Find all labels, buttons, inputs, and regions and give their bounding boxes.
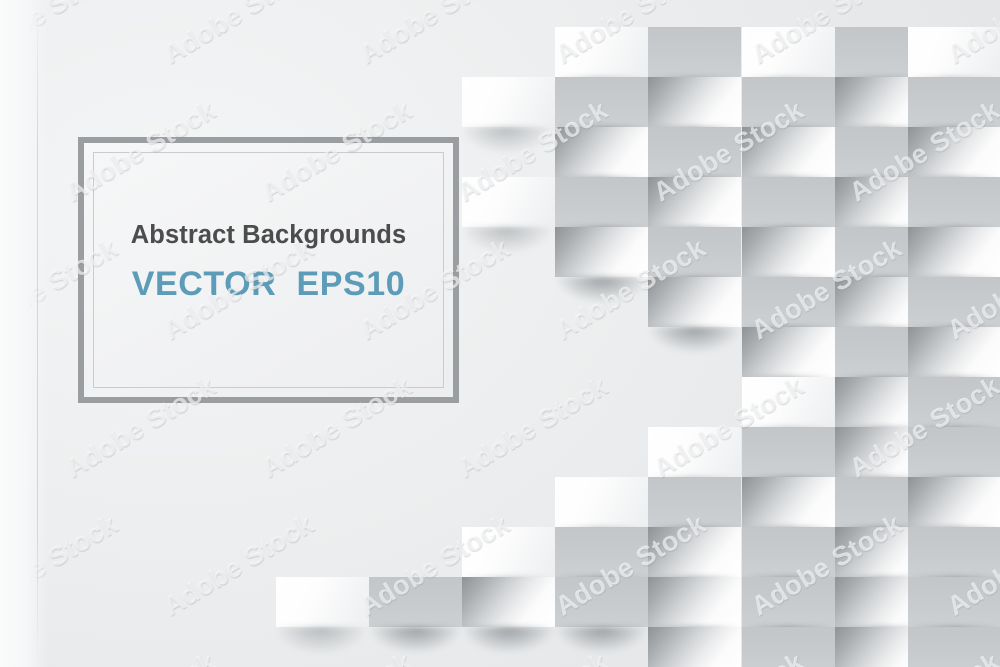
mosaic-tile (742, 627, 835, 667)
mosaic-tile-face (742, 227, 835, 277)
mosaic-tile (908, 277, 1000, 327)
mosaic-tile (555, 577, 648, 627)
mosaic-tile (648, 177, 741, 227)
mosaic-tile (742, 327, 835, 377)
caption-frame: Abstract Backgrounds VECTOR EPS10 (78, 137, 459, 403)
mosaic-tile (555, 77, 648, 127)
caption-text-block: Abstract Backgrounds VECTOR EPS10 (84, 221, 453, 304)
mosaic-tile-face (908, 477, 1000, 527)
mosaic-tile (908, 127, 1000, 177)
mosaic-tile-face (742, 27, 835, 77)
mosaic-tile (276, 577, 369, 627)
mosaic-tile-face (908, 277, 1000, 327)
mosaic-tile-face (648, 577, 741, 627)
mosaic-tile (648, 577, 741, 627)
mosaic-tile (742, 427, 835, 477)
mosaic-tile (742, 27, 835, 77)
mosaic-tile-shadow (464, 227, 561, 261)
mosaic-tile (462, 177, 555, 227)
mosaic-tile-face (648, 427, 741, 477)
mosaic-tile-face (908, 27, 1000, 77)
mosaic-tile-face (648, 227, 741, 277)
mosaic-tile-face (742, 177, 835, 227)
mosaic-tile (908, 527, 1000, 577)
mosaic-tile-face (742, 477, 835, 527)
mosaic-tile-face (648, 77, 741, 127)
mosaic-tile-face (555, 527, 648, 577)
mosaic-tile (908, 377, 1000, 427)
mosaic-tile-face (462, 177, 555, 227)
mosaic-tile (462, 577, 555, 627)
mosaic-tile-face (908, 427, 1000, 477)
mosaic-tile-face (742, 577, 835, 627)
mosaic-tile-face (555, 27, 648, 77)
mosaic-tile (742, 477, 835, 527)
mosaic-tile (369, 577, 462, 627)
mosaic-tile-face (908, 177, 1000, 227)
mosaic-tile-face (908, 577, 1000, 627)
credit-strip-divider (37, 0, 38, 667)
mosaic-tile (462, 527, 555, 577)
mosaic-tile-face (555, 77, 648, 127)
mosaic-tile-face (742, 327, 835, 377)
mosaic-tile-face (648, 277, 741, 327)
caption-subtitle: VECTOR EPS10 (84, 265, 453, 304)
mosaic-tile-face (462, 77, 555, 127)
mosaic-tile (648, 277, 741, 327)
mosaic-tile-face (648, 527, 741, 577)
mosaic-tile-face (462, 527, 555, 577)
mosaic-tile (742, 177, 835, 227)
mosaic-tile (742, 77, 835, 127)
mosaic-tile-shadow (371, 627, 468, 661)
mosaic-tile-face (742, 627, 835, 667)
mosaic-tile (648, 527, 741, 577)
mosaic-tile-face (369, 577, 462, 627)
mosaic-tile-face (555, 227, 648, 277)
mosaic-tile (742, 227, 835, 277)
mosaic-tile (648, 427, 741, 477)
mosaic-tile-face (742, 127, 835, 177)
mosaic-tile (555, 527, 648, 577)
mosaic-tile (742, 577, 835, 627)
mosaic-tile-face (908, 327, 1000, 377)
mosaic-tile-face (742, 427, 835, 477)
mosaic-tile-shadow (464, 627, 561, 661)
mosaic-tile (908, 477, 1000, 527)
mosaic-tile-face (555, 577, 648, 627)
mosaic-tile (908, 427, 1000, 477)
stock-preview-canvas: Abstract Backgrounds VECTOR EPS10 Adobe … (0, 0, 1000, 667)
mosaic-tile-face (555, 127, 648, 177)
mosaic-tile-face (908, 127, 1000, 177)
mosaic-tile-face (648, 477, 741, 527)
mosaic-tile-face (648, 177, 741, 227)
mosaic-tile (555, 177, 648, 227)
mosaic-tile (648, 227, 741, 277)
mosaic-tile (908, 77, 1000, 127)
mosaic-tile (648, 127, 741, 177)
mosaic-tile-face (555, 177, 648, 227)
mosaic-tile-shadow (557, 627, 654, 661)
mosaic-tile (462, 77, 555, 127)
mosaic-tile (555, 227, 648, 277)
mosaic-tile-face (908, 527, 1000, 577)
mosaic-tile-face (648, 627, 741, 667)
mosaic-tile (742, 127, 835, 177)
mosaic-tile (908, 627, 1000, 667)
mosaic-tile-face (648, 127, 741, 177)
mosaic-tile-shadow (650, 327, 747, 361)
mosaic-tile-face (742, 77, 835, 127)
mosaic-tile (908, 577, 1000, 627)
mosaic-tile (742, 377, 835, 427)
mosaic-tile (648, 27, 741, 77)
caption-title: Abstract Backgrounds (84, 221, 453, 249)
mosaic-tile-face (742, 377, 835, 427)
mosaic-tile-face (462, 577, 555, 627)
mosaic-tile-face (555, 477, 648, 527)
mosaic-tile-face (742, 527, 835, 577)
mosaic-tile-face (908, 377, 1000, 427)
mosaic-tile-face (908, 77, 1000, 127)
mosaic-tile-shadow (557, 277, 654, 311)
mosaic-tile-shadow (278, 627, 375, 661)
mosaic-tile (908, 327, 1000, 377)
mosaic-tile (648, 477, 741, 527)
mosaic-tile (742, 527, 835, 577)
mosaic-tile-face (908, 627, 1000, 667)
mosaic-tile (648, 77, 741, 127)
credit-strip: Adobe Stock | #176039151 (0, 0, 48, 667)
mosaic-tile (555, 127, 648, 177)
mosaic-tile (908, 177, 1000, 227)
mosaic-tile (908, 27, 1000, 77)
mosaic-tile-shadow (464, 127, 561, 161)
mosaic-tile (555, 27, 648, 77)
mosaic-tile (742, 277, 835, 327)
mosaic-tile (908, 227, 1000, 277)
mosaic-tile (648, 627, 741, 667)
mosaic-tile-face (276, 577, 369, 627)
mosaic-tile (555, 477, 648, 527)
mosaic-tile-face (742, 277, 835, 327)
mosaic-tile-face (648, 27, 741, 77)
mosaic-tile-face (908, 227, 1000, 277)
